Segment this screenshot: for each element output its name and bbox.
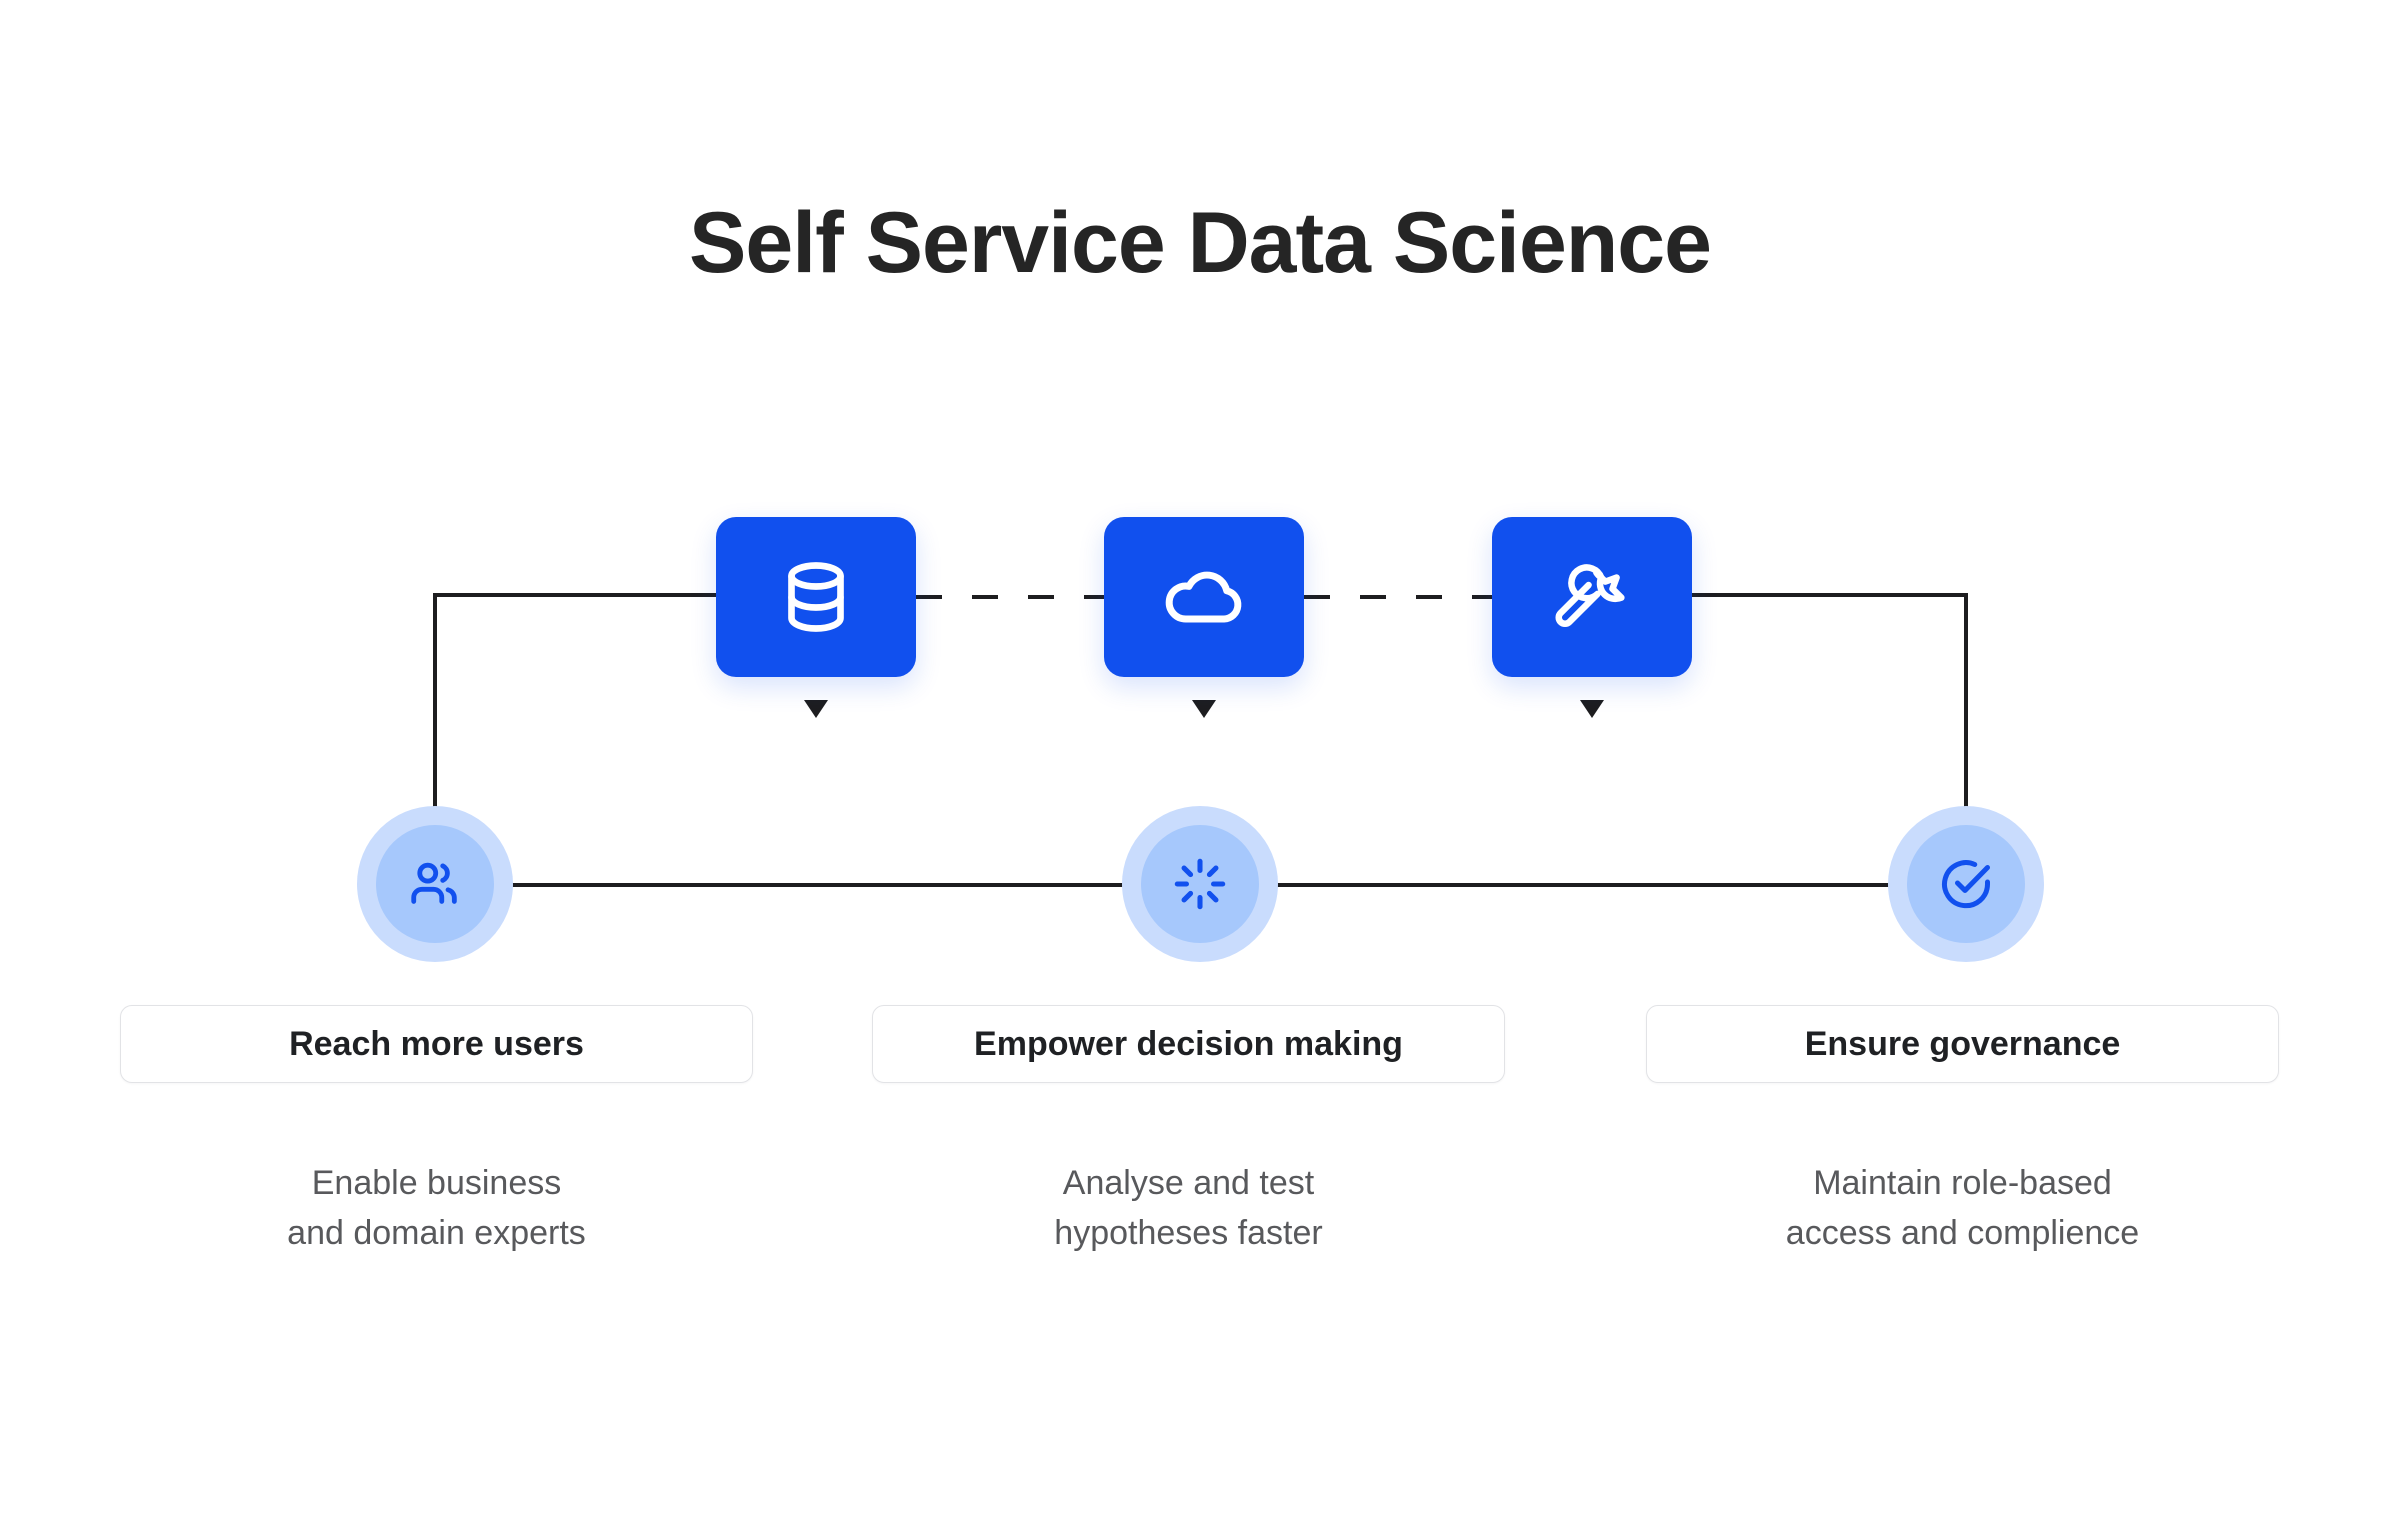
benefit-label-ensure-governance[interactable]: Ensure governance	[1646, 1005, 2279, 1083]
tile-tooling[interactable]	[1492, 517, 1692, 677]
tile-database[interactable]	[716, 517, 916, 677]
circle-inner	[1141, 825, 1259, 943]
wrench-icon	[1551, 556, 1633, 638]
benefit-description-reach-more-users: Enable business and domain experts	[120, 1158, 753, 1259]
connector-left-elbow	[435, 595, 716, 836]
benefit-description-empower-decision-making: Analyse and test hypotheses faster	[872, 1158, 1505, 1259]
users-icon	[406, 855, 464, 913]
connector-right-elbow	[1692, 595, 1966, 836]
circle-inner	[1907, 825, 2025, 943]
down-triangle-marker-cloud	[1192, 700, 1216, 718]
benefit-description-ensure-governance: Maintain role-based access and complienc…	[1646, 1158, 2279, 1259]
benefit-label-reach-more-users[interactable]: Reach more users	[120, 1005, 753, 1083]
database-icon	[774, 555, 858, 639]
circle-node-reach-more-users[interactable]	[357, 806, 513, 962]
circle-node-empower-decision-making[interactable]	[1122, 806, 1278, 962]
down-triangle-marker-database	[804, 700, 828, 718]
spinner-icon	[1171, 855, 1229, 913]
tile-cloud[interactable]	[1104, 517, 1304, 677]
circle-node-ensure-governance[interactable]	[1888, 806, 2044, 962]
check-circle-icon	[1936, 854, 1996, 914]
circle-inner	[376, 825, 494, 943]
benefit-label-empower-decision-making[interactable]: Empower decision making	[872, 1005, 1505, 1083]
cloud-icon	[1160, 553, 1248, 641]
page-title: Self Service Data Science	[0, 196, 2400, 291]
down-triangle-marker-tooling	[1580, 700, 1604, 718]
diagram-canvas: Self Service Data Science	[0, 0, 2400, 1538]
